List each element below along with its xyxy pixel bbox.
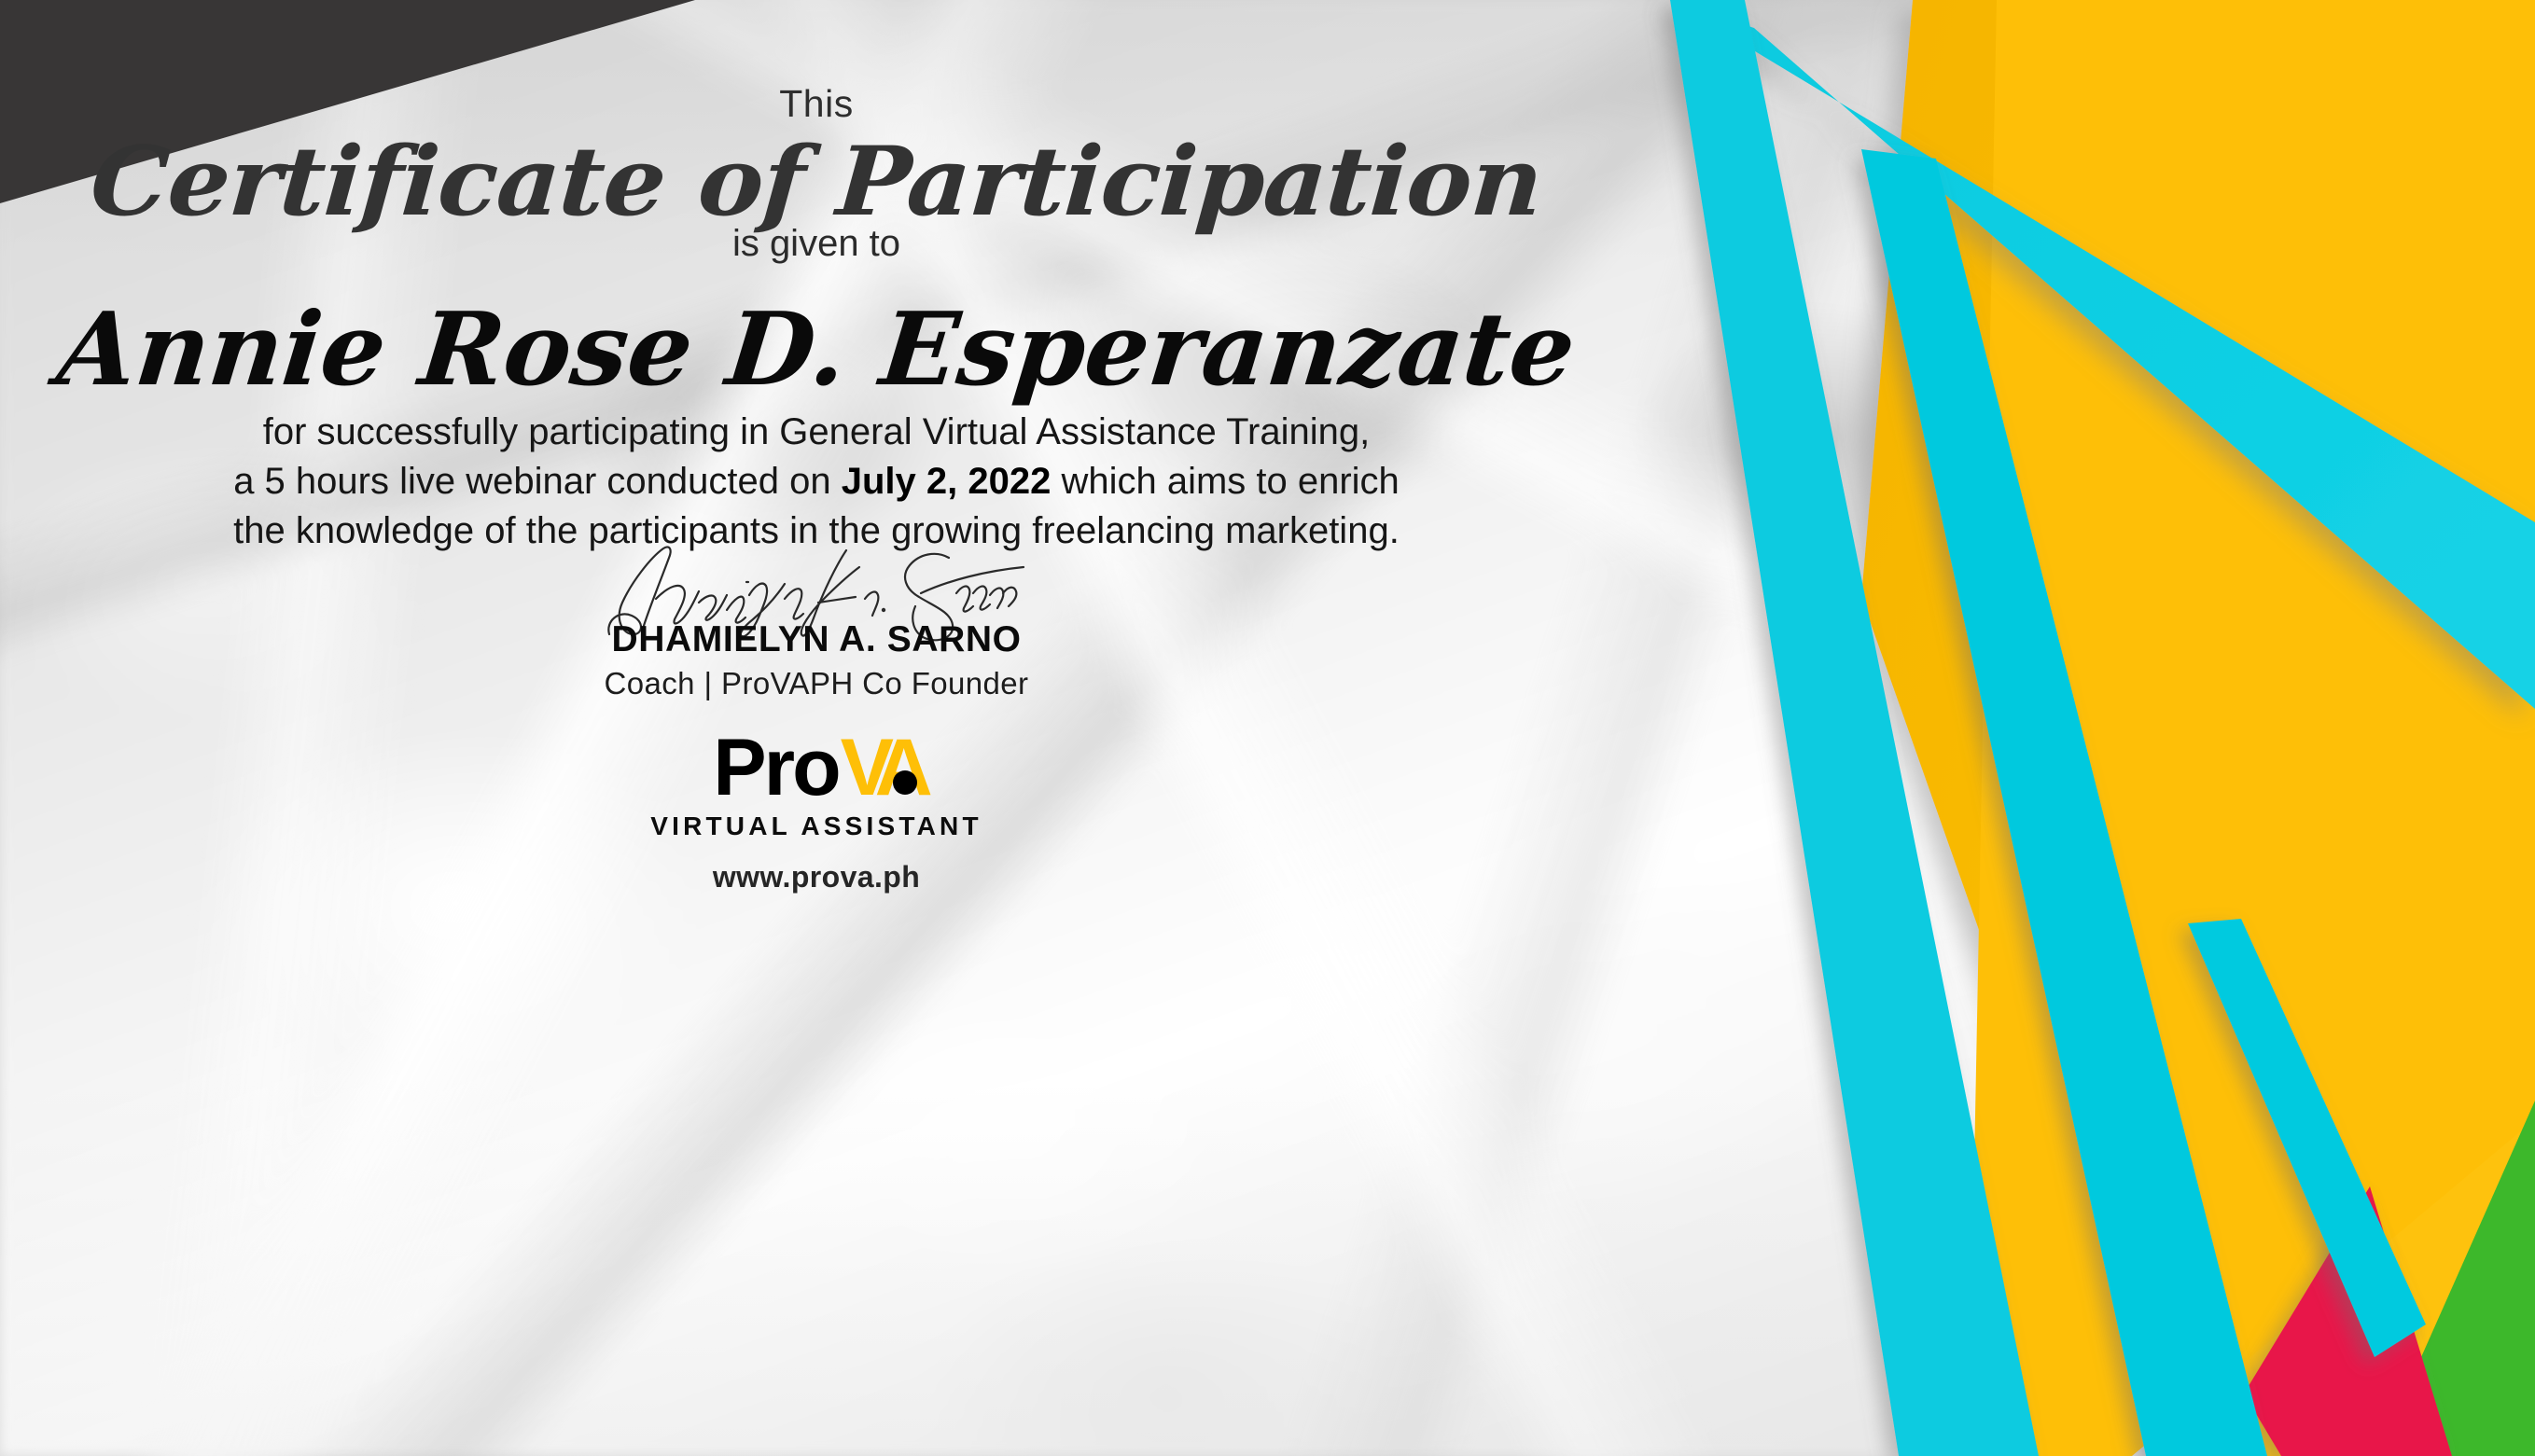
certificate-title: Certificate of Participation bbox=[0, 126, 1662, 238]
body-line-2-suffix: which aims to enrich bbox=[1051, 461, 1399, 502]
certificate-canvas: This Certificate of Participation is giv… bbox=[0, 0, 2535, 1456]
signer-role: Coach | ProVAPH Co Founder bbox=[0, 666, 1633, 701]
intro-line: This bbox=[0, 82, 1633, 126]
certificate-content: This Certificate of Participation is giv… bbox=[0, 0, 1633, 1456]
signer-name: DHAMIELYN A. SARNO bbox=[0, 619, 1633, 660]
body-line-2-prefix: a 5 hours live webinar conducted on bbox=[233, 461, 842, 502]
given-to-label: is given to bbox=[0, 223, 1633, 265]
body-line-2: a 5 hours live webinar conducted on July… bbox=[37, 457, 1595, 506]
recipient-name: Annie Rose D. Esperanzate bbox=[0, 291, 1639, 409]
body-line-1: for successfully participating in Genera… bbox=[37, 408, 1595, 457]
logo-text-pro: Pro bbox=[713, 723, 838, 812]
signature-block: DHAMIELYN A. SARNO Coach | ProVAPH Co Fo… bbox=[0, 541, 1633, 701]
prova-logo[interactable]: ProVA VIRTUAL ASSISTANT www.prova.ph bbox=[0, 728, 1633, 894]
logo-wordmark: ProVA bbox=[713, 728, 919, 808]
body-paragraph: for successfully participating in Genera… bbox=[37, 408, 1595, 555]
logo-website-url[interactable]: www.prova.ph bbox=[0, 860, 1633, 894]
logo-text-va: VA bbox=[841, 728, 920, 808]
event-date: July 2, 2022 bbox=[842, 461, 1052, 502]
logo-tagline: VIRTUAL ASSISTANT bbox=[0, 811, 1633, 841]
logo-va-letters: VA bbox=[841, 723, 920, 812]
logo-dot-icon bbox=[893, 770, 917, 795]
